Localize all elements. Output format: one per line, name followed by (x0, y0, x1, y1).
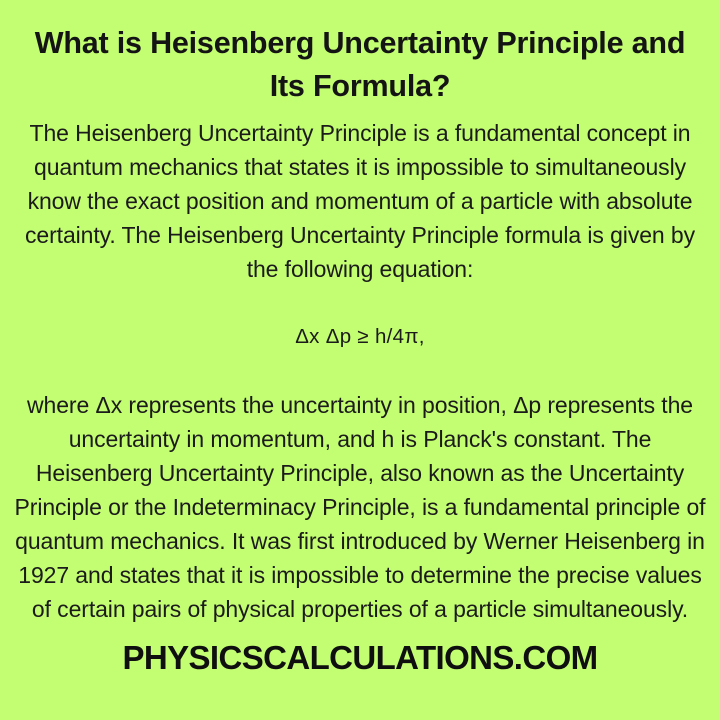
spacer-below-formula (8, 354, 712, 388)
article-body: The Heisenberg Uncertainty Principle is … (8, 116, 712, 286)
site-branding: PHYSICSCALCULATIONS.COM (8, 638, 712, 678)
article-body-continued: where Δx represents the uncertainty in p… (8, 388, 712, 626)
paragraph-explanation: where Δx represents the uncertainty in p… (8, 388, 712, 626)
infographic-card: What is Heisenberg Uncertainty Principle… (0, 0, 720, 720)
page-title: What is Heisenberg Uncertainty Principle… (8, 22, 712, 108)
paragraph-intro: The Heisenberg Uncertainty Principle is … (8, 116, 712, 286)
spacer-above-formula (8, 286, 712, 320)
uncertainty-formula: Δx Δp ≥ h/4π, (8, 320, 712, 354)
